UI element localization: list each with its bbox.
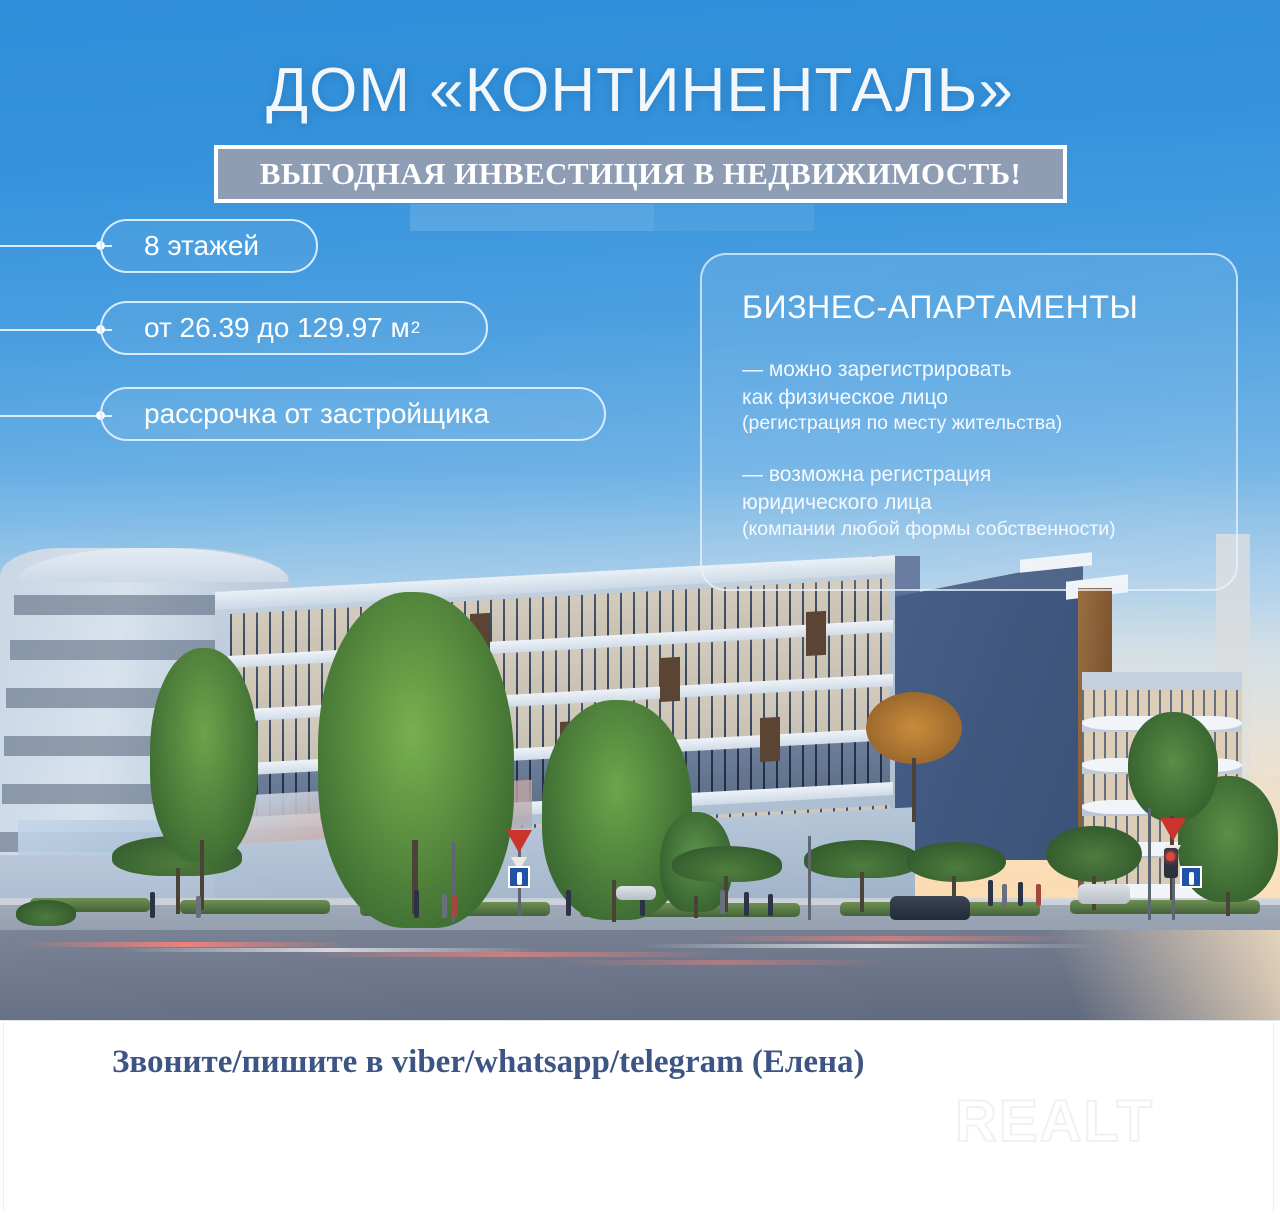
panel-bullet-note: (компании любой формы собственности) <box>742 517 1206 543</box>
facade-pier <box>760 717 780 762</box>
car <box>616 886 656 900</box>
panel-bullet-line: — можно зарегистрировать <box>742 356 1206 384</box>
light-streak <box>20 942 350 947</box>
feature-pill-area: от 26.39 до 129.97 м2 <box>100 301 488 355</box>
feature-pill-label: 8 этажей <box>144 230 259 262</box>
yield-sign <box>1160 818 1186 841</box>
light-streak <box>640 944 1100 948</box>
investment-banner: ВЫГОДНАЯ ИНВЕСТИЦИЯ В НЕДВИЖИМОСТЬ! <box>214 145 1067 203</box>
feature-pill-installment: рассрочка от застройщика <box>100 387 606 441</box>
facade-pier <box>660 657 680 702</box>
ad-banner-page: ДОМ «КОНТИНЕНТАЛЬ» ВЫГОДНАЯ ИНВЕСТИЦИЯ В… <box>0 0 1280 1213</box>
panel-title: БИЗНЕС-АПАРТАМЕНТЫ <box>742 289 1206 326</box>
panel-bullet-line: — возможна регистрация <box>742 461 1206 489</box>
pedestrian <box>150 892 155 918</box>
light-streak <box>560 960 890 965</box>
ghost-overlay-rect <box>410 204 654 231</box>
pedestrian <box>1036 884 1041 906</box>
pedestrian <box>442 894 447 918</box>
light-streak <box>120 948 540 952</box>
pedestrian <box>566 890 571 916</box>
pedestrian <box>744 892 749 916</box>
light-streak <box>300 952 720 957</box>
pedestrian <box>1002 884 1007 906</box>
panel-bullet-line: юридического лица <box>742 489 1206 517</box>
yield-sign <box>506 830 532 853</box>
page-title: ДОМ «КОНТИНЕНТАЛЬ» <box>0 58 1280 123</box>
feature-pill-label: от 26.39 до 129.97 м <box>144 312 410 344</box>
contact-caption: Звоните/пишите в viber/whatsapp/telegram… <box>112 1044 865 1081</box>
car <box>1078 884 1130 904</box>
pedestrian <box>720 890 725 914</box>
pedestrian <box>1018 882 1023 906</box>
light-streak <box>700 936 1080 941</box>
square-meter-superscript: 2 <box>411 318 420 338</box>
lamp-post <box>1148 808 1151 920</box>
pedestrian <box>196 896 201 918</box>
pedestrian-crossing-sign <box>508 866 530 888</box>
lamp-post <box>808 836 811 920</box>
facade-pier <box>806 611 826 656</box>
panel-bullet-line: как физическое лицо <box>742 384 1206 412</box>
feature-pill-floors: 8 этажей <box>100 219 318 273</box>
banner-label: ВЫГОДНАЯ ИНВЕСТИЦИЯ В НЕДВИЖИМОСТЬ! <box>260 156 1021 192</box>
traffic-light-red <box>1166 852 1175 861</box>
business-apartments-panel: БИЗНЕС-АПАРТАМЕНТЫ — можно зарегистриров… <box>700 253 1238 591</box>
panel-bullet-block: — возможна регистрация юридического лица… <box>742 461 1206 542</box>
realt-watermark: REALT <box>955 1088 1154 1155</box>
panel-bullet-block: — можно зарегистрировать как физическое … <box>742 356 1206 437</box>
panel-bullet-note: (регистрация по месту жительства) <box>742 411 1206 437</box>
car <box>890 896 970 920</box>
pedestrian <box>988 880 993 906</box>
pedestrian-crossing-sign <box>1180 866 1202 888</box>
pedestrian <box>768 894 773 916</box>
hero-render-image: ДОМ «КОНТИНЕНТАЛЬ» ВЫГОДНАЯ ИНВЕСТИЦИЯ В… <box>0 0 1280 1020</box>
pedestrian <box>452 895 457 917</box>
pedestrian <box>414 890 419 918</box>
feature-pill-label: рассрочка от застройщика <box>144 398 489 430</box>
ghost-overlay-rect <box>654 204 814 231</box>
